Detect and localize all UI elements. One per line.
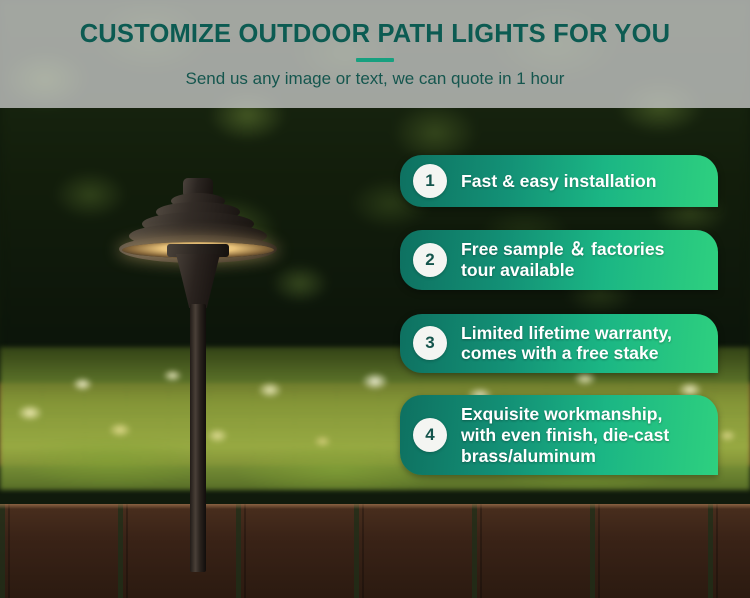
title-divider xyxy=(356,58,394,62)
feature-number-badge: 2 xyxy=(413,243,447,277)
feature-label: Limited lifetime warranty, comes with a … xyxy=(461,323,672,365)
banner-header: CUSTOMIZE OUTDOOR PATH LIGHTS FOR YOU Se… xyxy=(0,0,750,108)
lamp-pole xyxy=(190,304,206,572)
lamp-neck xyxy=(176,254,220,308)
brick-wall-front xyxy=(0,504,750,598)
page-title: CUSTOMIZE OUTDOOR PATH LIGHTS FOR YOU xyxy=(80,20,671,49)
feature-item: 3 Limited lifetime warranty, comes with … xyxy=(400,314,718,374)
feature-number-badge: 4 xyxy=(413,418,447,452)
feature-number-badge: 1 xyxy=(413,164,447,198)
feature-item: 4 Exquisite workmanship, with even finis… xyxy=(400,395,718,475)
feature-number-badge: 3 xyxy=(413,326,447,360)
feature-label: Exquisite workmanship, with even finish,… xyxy=(461,404,669,466)
brick-coping-cap xyxy=(0,476,750,506)
feature-label: Fast & easy installation xyxy=(461,171,657,192)
page-subtitle: Send us any image or text, we can quote … xyxy=(186,69,565,89)
promo-banner: CUSTOMIZE OUTDOOR PATH LIGHTS FOR YOU Se… xyxy=(0,0,750,598)
feature-item: 2 Free sample ＆ factories tour available xyxy=(400,230,718,290)
feature-label: Free sample ＆ factories tour available xyxy=(461,239,664,281)
feature-item: 1 Fast & easy installation xyxy=(400,155,718,207)
path-light-product xyxy=(118,178,278,578)
feature-list: 1 Fast & easy installation 2 Free sample… xyxy=(400,155,718,475)
